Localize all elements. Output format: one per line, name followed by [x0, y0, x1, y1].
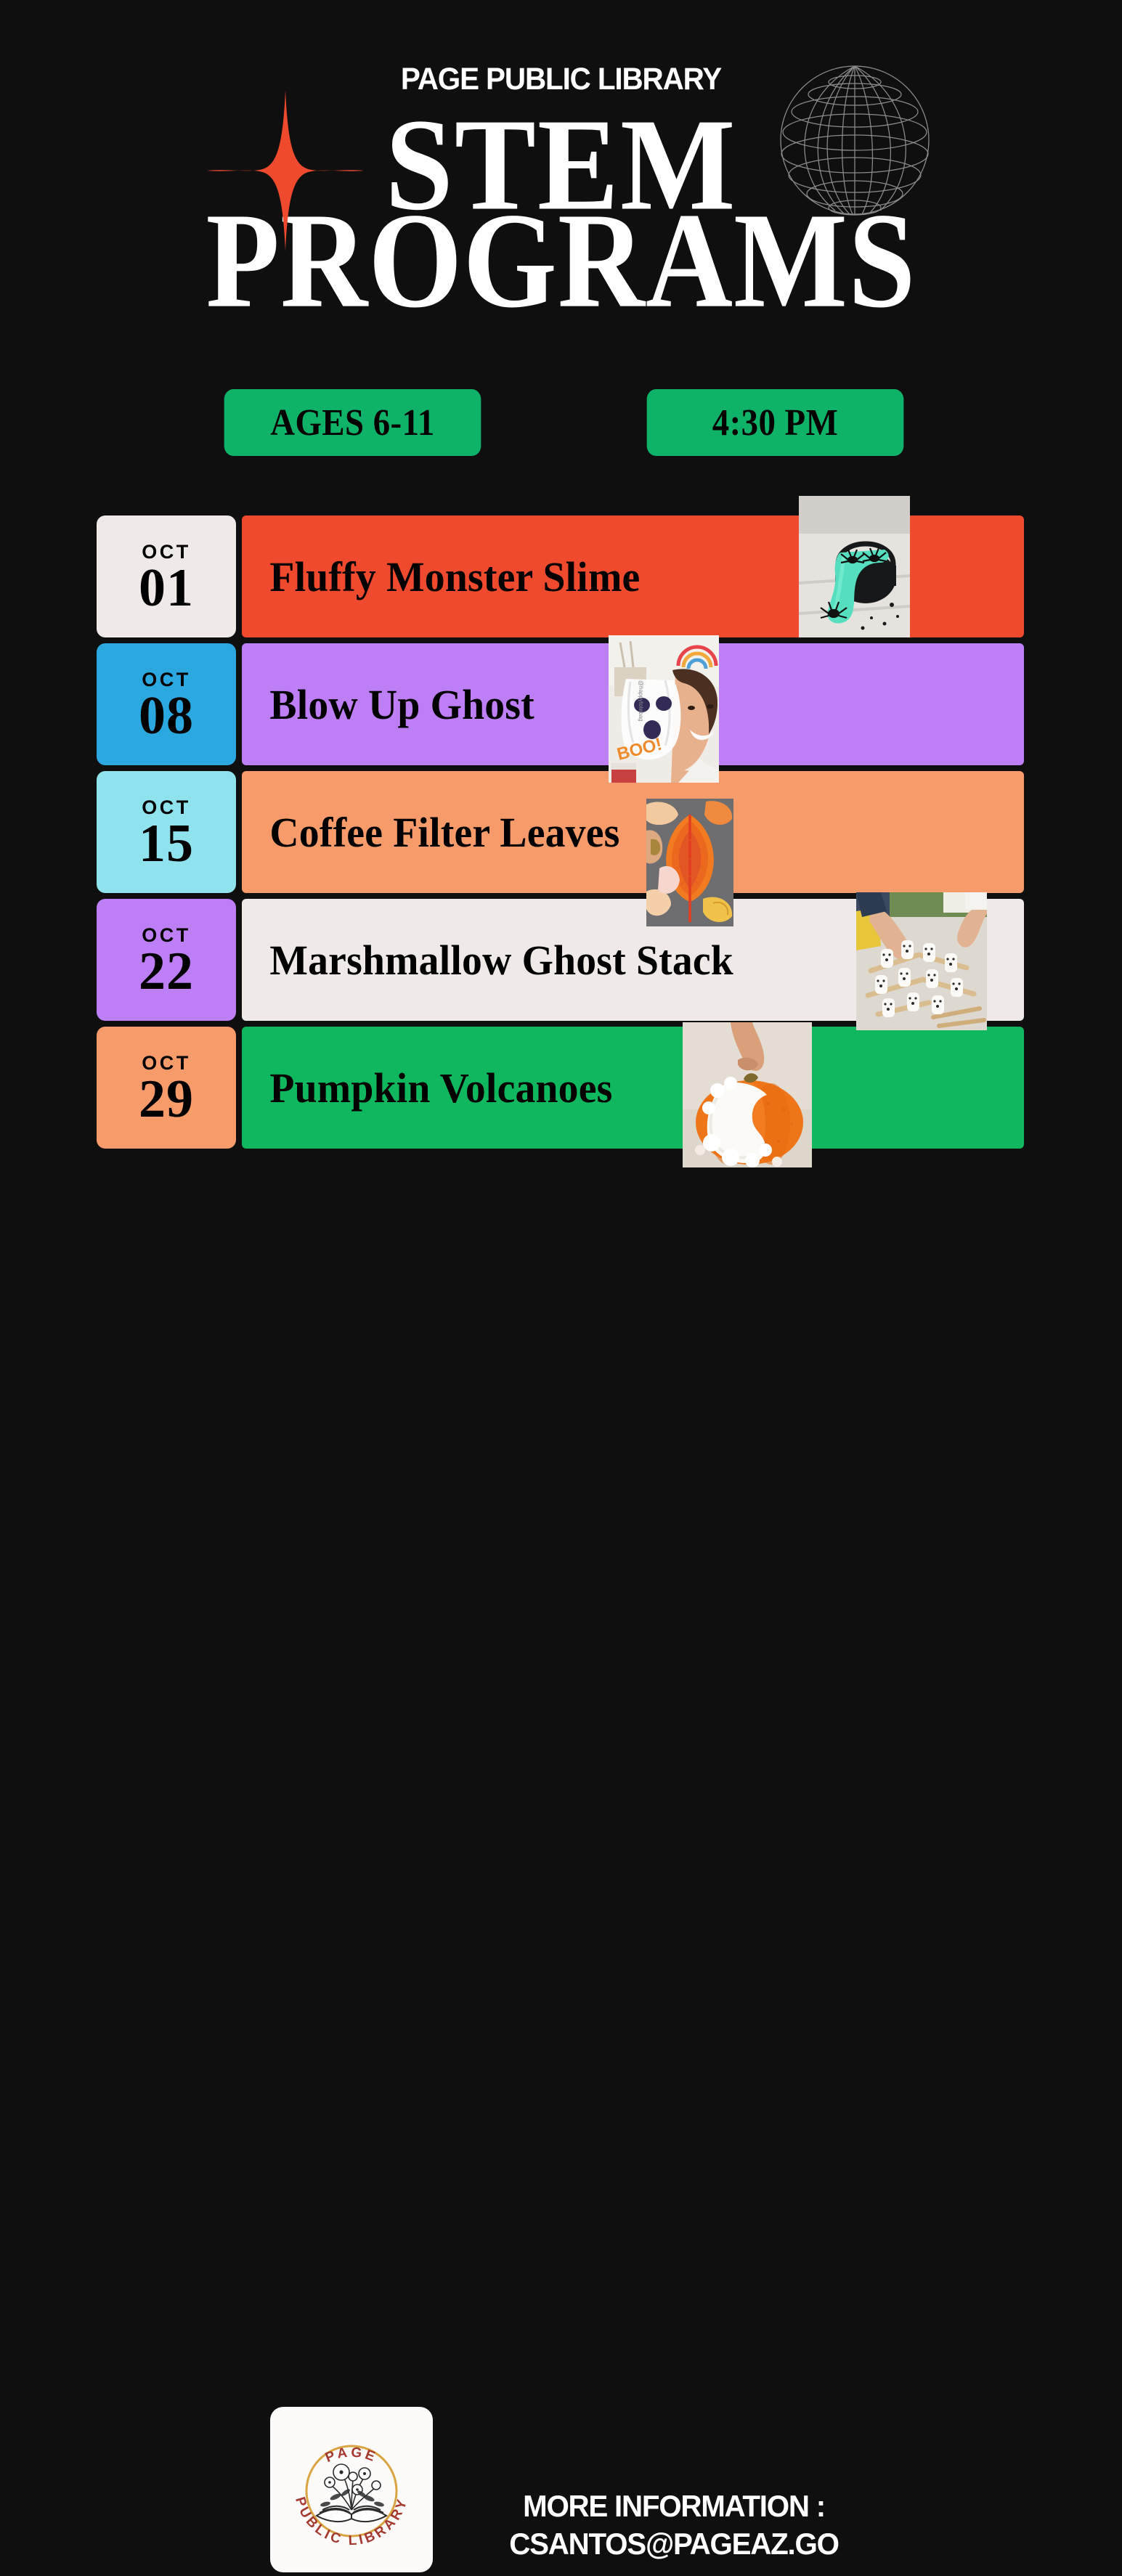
date-chip: OCT 15 — [97, 771, 236, 893]
svg-text:PAGE: PAGE — [323, 2445, 380, 2466]
coffee-filter-leaves-photo — [646, 799, 733, 926]
program-title: Coffee Filter Leaves — [242, 771, 619, 893]
blow-up-ghost-photo: BOO! @happytotebag — [609, 635, 719, 783]
program-title: Blow Up Ghost — [242, 643, 534, 765]
table-row[interactable]: OCT 15 Coffee Filter Leaves — [97, 771, 1024, 893]
table-row[interactable]: OCT 29 Pumpkin Volcanoes — [97, 1027, 1024, 1149]
date-day: 01 — [139, 565, 194, 612]
table-row[interactable]: OCT 08 Blow Up Ghost — [97, 643, 1024, 765]
poster-header: PAGE PUBLIC LIBRARY STEM PROGRAMS — [0, 0, 1122, 363]
poster-footer: PAGE PUBLIC LIBRARY MORE INFORMATION : C… — [0, 1198, 1122, 1452]
table-row[interactable]: OCT 22 Marshmallow Ghost Stack — [97, 899, 1024, 1021]
date-chip: OCT 08 — [97, 643, 236, 765]
pumpkin-volcanoes-photo — [683, 1022, 812, 1167]
heading-programs: PROGRAMS — [6, 198, 1117, 324]
contact-email: CSANTOS@PAGEAZ.GO — [465, 2525, 883, 2563]
marshmallow-ghost-stack-photo — [856, 892, 987, 1030]
program-schedule-list: OCT 01 Fluffy Monster Slime — [0, 515, 1122, 1162]
date-day: 22 — [139, 948, 194, 995]
date-day: 29 — [139, 1076, 194, 1123]
page-public-library-logo: PAGE PUBLIC LIBRARY — [270, 2407, 433, 2572]
table-row[interactable]: OCT 01 Fluffy Monster Slime — [97, 515, 1024, 637]
program-title: Pumpkin Volcanoes — [242, 1027, 612, 1149]
contact-label: MORE INFORMATION : — [465, 2487, 883, 2525]
row-body: Coffee Filter Leaves — [242, 771, 1024, 893]
program-title: Fluffy Monster Slime — [242, 515, 640, 637]
time-badge[interactable]: 4:30 PM — [647, 389, 904, 456]
date-chip: OCT 29 — [97, 1027, 236, 1149]
wireframe-globe-icon — [771, 57, 938, 224]
date-chip: OCT 01 — [97, 515, 236, 637]
badge-strip: AGES 6-11 4:30 PM — [0, 389, 1122, 465]
date-day: 08 — [139, 693, 194, 740]
four-point-sparkle-icon — [206, 89, 365, 253]
ages-badge-label: AGES 6-11 — [270, 402, 434, 444]
time-badge-label: 4:30 PM — [712, 402, 838, 444]
contact-info: MORE INFORMATION : CSANTOS@PAGEAZ.GO — [465, 2487, 883, 2563]
ages-badge[interactable]: AGES 6-11 — [224, 389, 481, 456]
date-day: 15 — [139, 820, 194, 868]
row-body: Pumpkin Volcanoes — [242, 1027, 1024, 1149]
svg-text:@happytotebag: @happytotebag — [638, 680, 644, 722]
fluffy-monster-slime-photo — [799, 496, 910, 637]
date-chip: OCT 22 — [97, 899, 236, 1021]
